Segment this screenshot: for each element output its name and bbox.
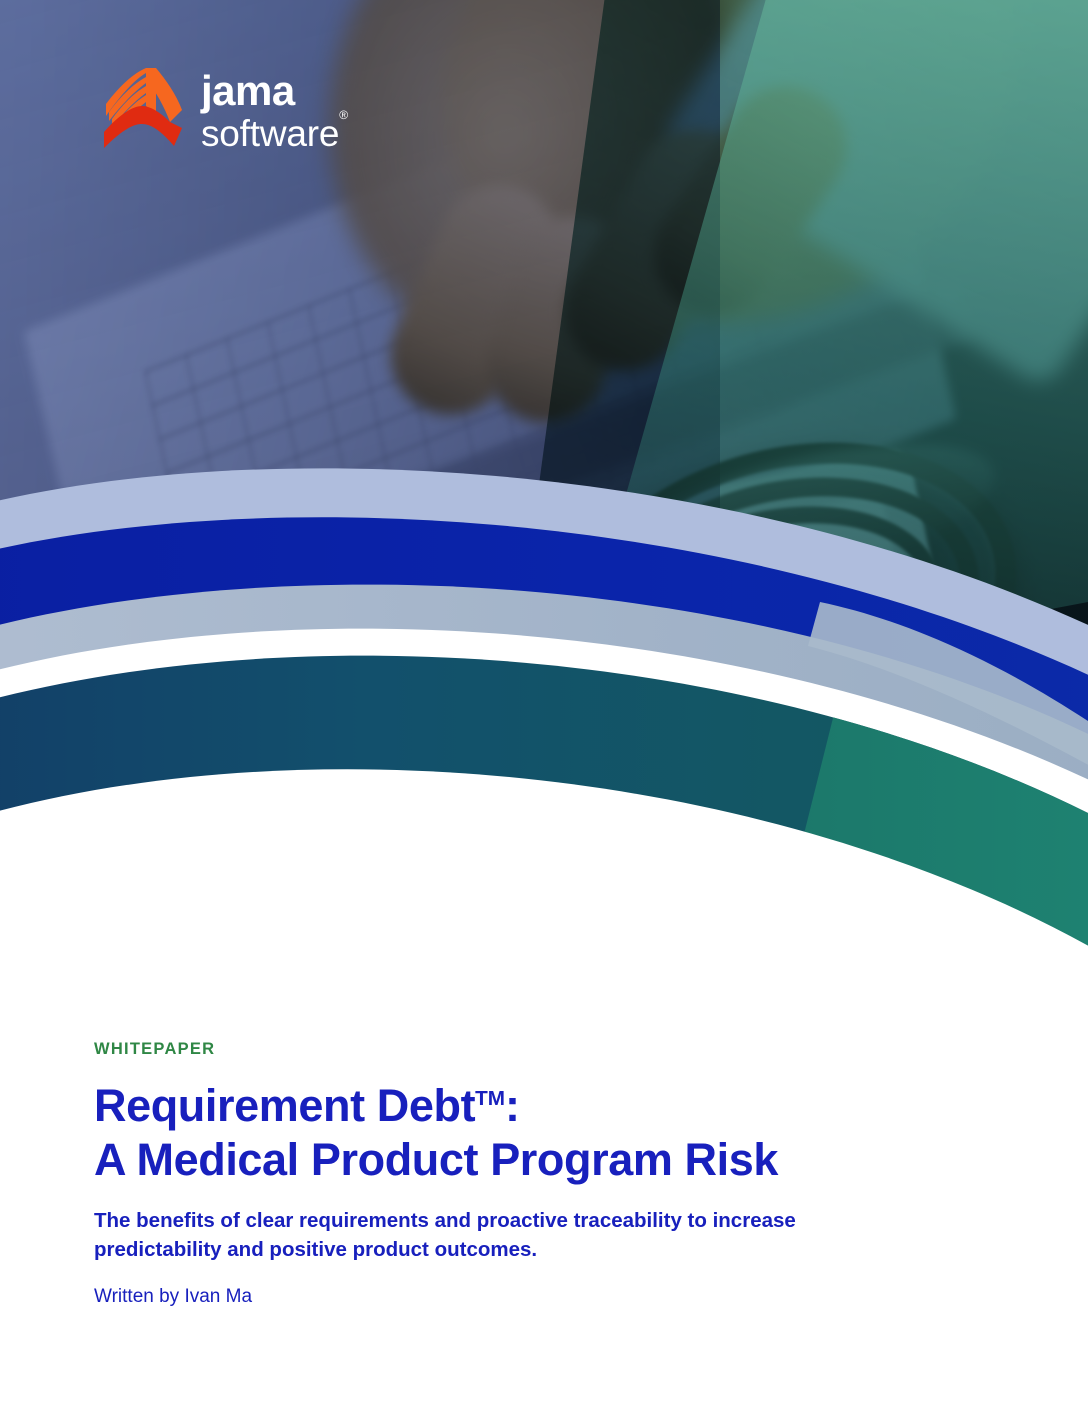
jama-chevron-logo-icon [100, 66, 184, 156]
page-title-line-2: A Medical Product Program Risk [94, 1134, 778, 1185]
page-title: Requirement DebtTM: A Medical Product Pr… [94, 1079, 974, 1186]
brand-name-jama: jama [201, 70, 348, 112]
cover-text-block: WHITEPAPER Requirement DebtTM: A Medical… [94, 1040, 974, 1308]
page-subtitle: The benefits of clear requirements and p… [94, 1206, 854, 1264]
whitepaper-cover-page: jama software® WHITEPAPER Requirement De… [0, 0, 1088, 1408]
trademark-superscript: TM [475, 1087, 505, 1110]
author-byline: Written by Ivan Ma [94, 1286, 974, 1308]
registered-trademark-icon: ® [339, 108, 348, 122]
brand-wordmark: jama software® [201, 70, 348, 152]
brand-logo-lockup: jama software® [100, 66, 348, 156]
document-type-label: WHITEPAPER [94, 1040, 974, 1059]
hero-image: jama software® [0, 0, 1088, 1010]
page-title-line-1: Requirement DebtTM: [94, 1080, 520, 1131]
brand-name-software: software® [201, 115, 348, 152]
decorative-curve-bands [0, 450, 1088, 1010]
